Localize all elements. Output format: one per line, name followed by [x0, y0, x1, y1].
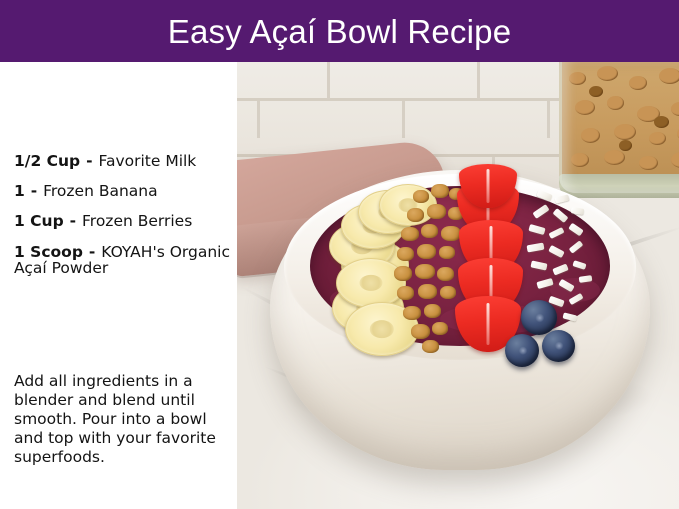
header-banner: Easy Açaí Bowl Recipe: [0, 0, 679, 62]
ingredient-quantity: 1 Cup: [14, 212, 64, 230]
recipe-card: Easy Açaí Bowl Recipe 1/2 Cup - Favorite…: [0, 0, 679, 509]
granola-piece: [432, 322, 448, 335]
recipe-text-panel: 1/2 Cup - Favorite Milk 1 - Frozen Banan…: [0, 62, 237, 509]
ingredient-quantity: 1 Scoop: [14, 243, 83, 261]
granola-piece: [421, 224, 438, 238]
ingredient-row: 1 Scoop - KOYAH's Organic Açaí Powder: [14, 244, 236, 277]
ingredient-row: 1 - Frozen Banana: [14, 184, 236, 200]
ingredient-dash: -: [69, 212, 77, 230]
banana-slice: [336, 258, 406, 308]
granola-piece: [418, 284, 437, 299]
blueberry: [542, 330, 575, 362]
tile-grout-line: [477, 62, 480, 99]
ingredient-name: Frozen Berries: [82, 212, 192, 230]
ingredients-list: 1/2 Cup - Favorite Milk 1 - Frozen Banan…: [14, 154, 236, 291]
granola-piece: [397, 247, 414, 261]
ingredient-name: Frozen Banana: [43, 182, 158, 200]
granola-piece: [439, 246, 455, 259]
blueberry: [505, 334, 539, 367]
tile-grout-line: [547, 101, 550, 138]
ingredient-quantity: 1/2 Cup: [14, 152, 80, 170]
granola-piece: [431, 184, 449, 198]
granola-piece: [437, 267, 454, 281]
granola-jar-glass: [559, 62, 679, 193]
ingredient-dash: -: [85, 152, 93, 170]
tile-grout-line: [257, 101, 260, 138]
ingredient-dash: -: [88, 243, 96, 261]
granola-piece: [394, 266, 412, 281]
granola-piece: [397, 286, 414, 300]
instructions-text: Add all ingredients in a blender and ble…: [14, 372, 229, 467]
granola-piece: [440, 286, 456, 299]
granola-piece: [422, 340, 439, 353]
granola-piece: [413, 190, 429, 203]
granola-piece: [424, 304, 441, 318]
granola-piece: [403, 306, 421, 320]
tile-grout-line: [402, 101, 405, 138]
ingredient-row: 1 Cup - Frozen Berries: [14, 214, 236, 230]
granola-piece: [401, 227, 419, 241]
ingredient-row: 1/2 Cup - Favorite Milk: [14, 154, 236, 170]
page-title: Easy Açaí Bowl Recipe: [168, 15, 512, 48]
granola-piece: [411, 324, 430, 339]
granola-piece: [407, 208, 424, 222]
granola-piece: [427, 204, 446, 219]
ingredient-dash: -: [30, 182, 38, 200]
ingredient-name: Favorite Milk: [98, 152, 196, 170]
acai-bowl-photo: [237, 62, 679, 509]
tile-grout-line: [327, 62, 330, 99]
granola-piece: [441, 226, 461, 241]
blueberry: [521, 300, 557, 335]
ingredient-quantity: 1: [14, 182, 25, 200]
granola-piece: [415, 264, 435, 279]
granola-piece: [417, 244, 436, 259]
